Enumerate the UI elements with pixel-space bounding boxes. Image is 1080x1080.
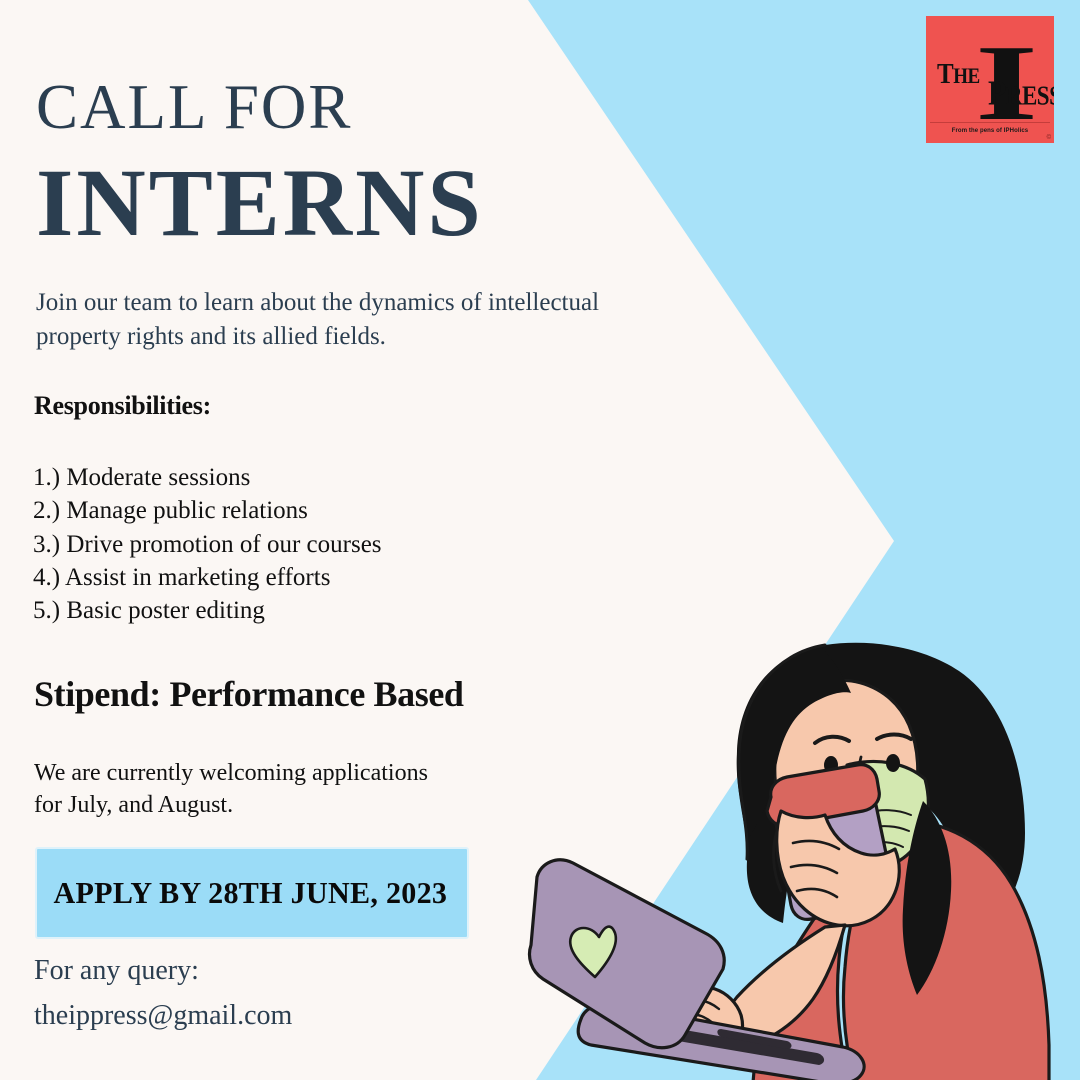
logo-word-press: PRESS [988,76,1054,111]
query-email[interactable]: theippress@gmail.com [34,1000,292,1032]
the-ip-press-logo[interactable]: I THE PRESS From the pens of IPHolics © [926,16,1054,143]
copyright-icon: © [1047,135,1051,141]
illustration-svg [525,615,1080,1080]
responsibilities-heading: Responsibilities: [34,391,211,421]
illustration-woman-with-laptop [525,615,1080,1080]
poster-canvas: I THE PRESS From the pens of IPHolics © … [0,0,1080,1080]
list-item: 3.) Drive promotion of our courses [33,528,382,561]
welcoming-paragraph: We are currently welcoming applications … [34,758,454,821]
apply-deadline-label: APPLY BY 28TH JUNE, 2023 [37,875,447,911]
logo-divider-rule [930,122,1050,123]
intro-paragraph: Join our team to learn about the dynamic… [36,286,636,354]
logo-word-the: THE [937,60,980,89]
responsibilities-list: 1.) Moderate sessions 2.) Manage public … [33,461,382,627]
query-label: For any query: [34,955,199,987]
stipend-line: Stipend: Performance Based [34,673,464,715]
list-item: 2.) Manage public relations [33,494,382,527]
apply-deadline-banner[interactable]: APPLY BY 28TH JUNE, 2023 [35,847,469,939]
headline-line-1: CALL FOR [36,76,352,139]
logo-tagline: From the pens of IPHolics [926,128,1054,134]
list-item: 1.) Moderate sessions [33,461,382,494]
list-item: 4.) Assist in marketing efforts [33,561,382,594]
headline-line-2: INTERNS [36,155,484,251]
list-item: 5.) Basic poster editing [33,594,382,627]
logo-wordmark: I THE PRESS [926,16,1054,124]
